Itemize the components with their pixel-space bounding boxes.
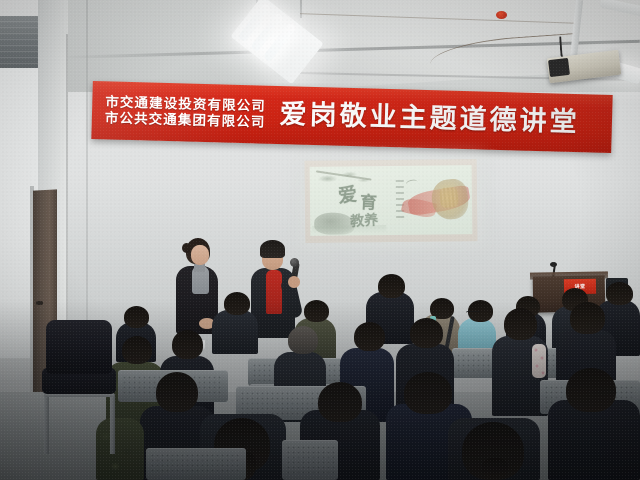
banner-title: 爱岗敬业主题道德讲堂 bbox=[279, 100, 580, 138]
presenter-woman-hair-bun bbox=[182, 243, 191, 253]
audience-head-grey bbox=[288, 326, 318, 354]
audience-body bbox=[458, 318, 496, 352]
microphone-head-icon bbox=[290, 258, 299, 267]
presenter-man-hair bbox=[260, 240, 285, 258]
black-office-chair[interactable] bbox=[46, 320, 112, 374]
office-chair-leg bbox=[110, 394, 115, 454]
projected-slide: 爱 育 教养 bbox=[310, 165, 473, 236]
podium-microphone-icon bbox=[550, 262, 557, 267]
office-chair-leg bbox=[44, 394, 49, 454]
door-handle-icon[interactable] bbox=[36, 301, 43, 305]
audience-head bbox=[504, 308, 537, 340]
audience-head bbox=[606, 282, 633, 305]
audience-head bbox=[124, 306, 149, 328]
floral-scarf bbox=[532, 344, 546, 378]
banner-company-lines: 市交通建设投资有限公司 市公共交通集团有限公司 bbox=[92, 94, 266, 130]
conference-room-photo: 市交通建设投资有限公司 市公共交通集团有限公司 爱岗敬业主题道德讲堂 爱 育 教… bbox=[0, 0, 640, 480]
slide-bird-icon bbox=[405, 179, 418, 188]
smoke-detector-icon bbox=[496, 11, 507, 19]
audience-head bbox=[318, 382, 362, 422]
audience-head bbox=[566, 368, 616, 412]
eyeglasses-icon bbox=[466, 311, 480, 316]
projection-screen: 爱 育 教养 bbox=[305, 159, 478, 243]
projector-lens-icon bbox=[548, 58, 570, 77]
audience-body-camo bbox=[96, 418, 144, 480]
audience-chair-row[interactable] bbox=[282, 440, 338, 480]
audience-head bbox=[172, 330, 203, 359]
audience-head bbox=[378, 274, 405, 298]
audience-head bbox=[122, 336, 152, 364]
wall-seam bbox=[66, 34, 68, 364]
audience-head bbox=[570, 302, 605, 334]
audience-body bbox=[548, 400, 640, 480]
audience-head bbox=[156, 372, 198, 412]
audience-body bbox=[212, 310, 258, 354]
presenter-man-red-sweater bbox=[266, 270, 282, 314]
audience-head bbox=[224, 292, 250, 315]
banner-company-line-2: 市公共交通集团有限公司 bbox=[105, 111, 266, 130]
slide-vertical-text bbox=[396, 180, 404, 220]
ponytail bbox=[482, 458, 508, 480]
light-suspension-rod-2 bbox=[300, 0, 302, 18]
slide-calligraphy-1: 爱 bbox=[336, 179, 358, 208]
slide-calligraphy-3: 教养 bbox=[350, 209, 379, 231]
presenter-man-hand bbox=[288, 276, 300, 288]
presenter-woman-face bbox=[191, 245, 209, 265]
audience-head bbox=[304, 300, 329, 322]
slide-ornament-detail bbox=[439, 187, 459, 209]
audience-head bbox=[410, 318, 443, 348]
audience-head bbox=[404, 372, 452, 414]
audience-chair-row[interactable] bbox=[146, 448, 246, 480]
audience-head bbox=[354, 322, 385, 351]
